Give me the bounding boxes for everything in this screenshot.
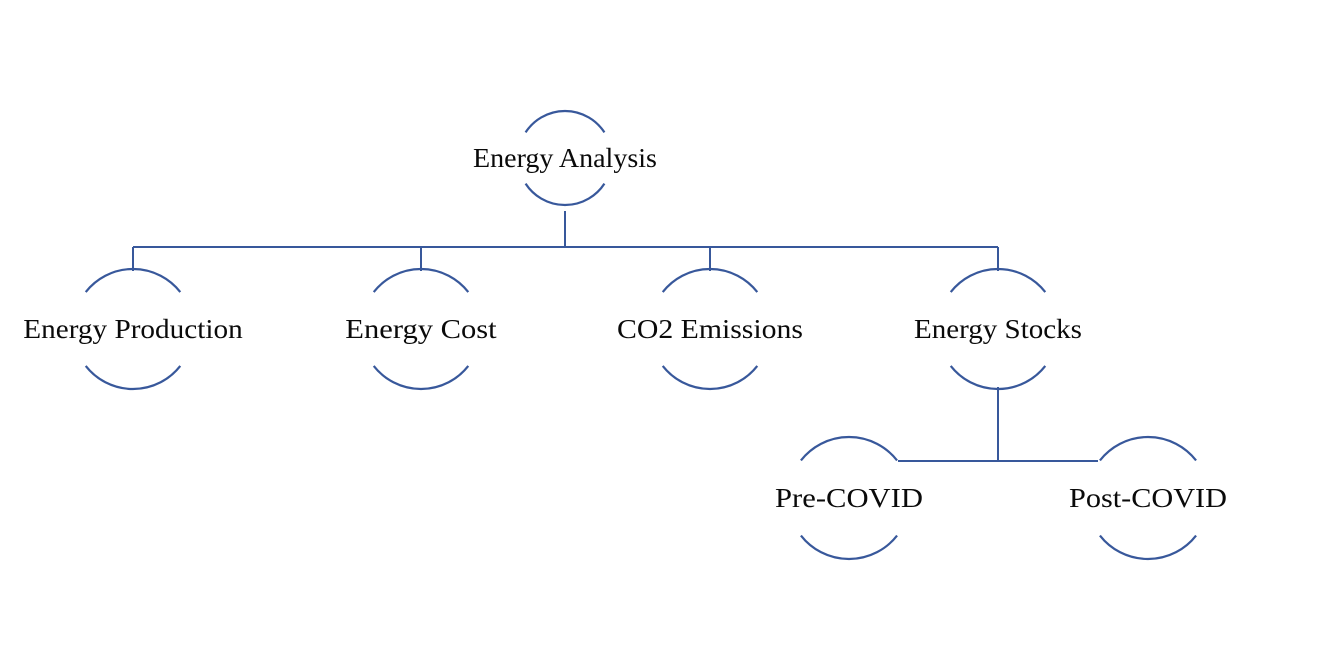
node-energy-cost[interactable]: Energy Cost [345, 269, 496, 389]
node-top-arc-icon [526, 111, 605, 132]
node-bottom-arc-icon [951, 366, 1046, 389]
node-label-energy-cost: Energy Cost [345, 315, 496, 345]
node-energy-stocks[interactable]: Energy Stocks [914, 269, 1082, 389]
node-top-arc-icon [374, 269, 469, 292]
node-bottom-arc-icon [526, 184, 605, 205]
node-post-covid[interactable]: Post-COVID [1069, 437, 1227, 559]
node-energy-analysis[interactable]: Energy Analysis [473, 111, 657, 205]
node-label-pre-covid: Pre-COVID [775, 484, 923, 514]
node-top-arc-icon [663, 269, 758, 292]
node-energy-production[interactable]: Energy Production [23, 269, 242, 389]
node-top-arc-icon [86, 269, 181, 292]
node-top-arc-icon [951, 269, 1046, 292]
node-bottom-arc-icon [374, 366, 469, 389]
node-label-post-covid: Post-COVID [1069, 483, 1227, 513]
node-co2-emissions[interactable]: CO2 Emissions [617, 269, 803, 389]
node-bottom-arc-icon [1100, 536, 1196, 559]
tree-diagram: Energy AnalysisEnergy ProductionEnergy C… [0, 0, 1320, 658]
node-bottom-arc-icon [86, 366, 181, 389]
node-top-arc-icon [801, 437, 897, 460]
node-bottom-arc-icon [663, 366, 758, 389]
node-label-energy-analysis: Energy Analysis [473, 142, 657, 172]
node-label-co2-emissions: CO2 Emissions [617, 315, 803, 344]
node-label-energy-production: Energy Production [23, 315, 242, 345]
node-layer: Energy AnalysisEnergy ProductionEnergy C… [23, 111, 1227, 559]
node-pre-covid[interactable]: Pre-COVID [775, 437, 923, 559]
node-bottom-arc-icon [801, 536, 897, 559]
node-top-arc-icon [1100, 437, 1196, 460]
tree-diagram-canvas: Energy AnalysisEnergy ProductionEnergy C… [0, 0, 1320, 658]
node-label-energy-stocks: Energy Stocks [914, 315, 1082, 345]
